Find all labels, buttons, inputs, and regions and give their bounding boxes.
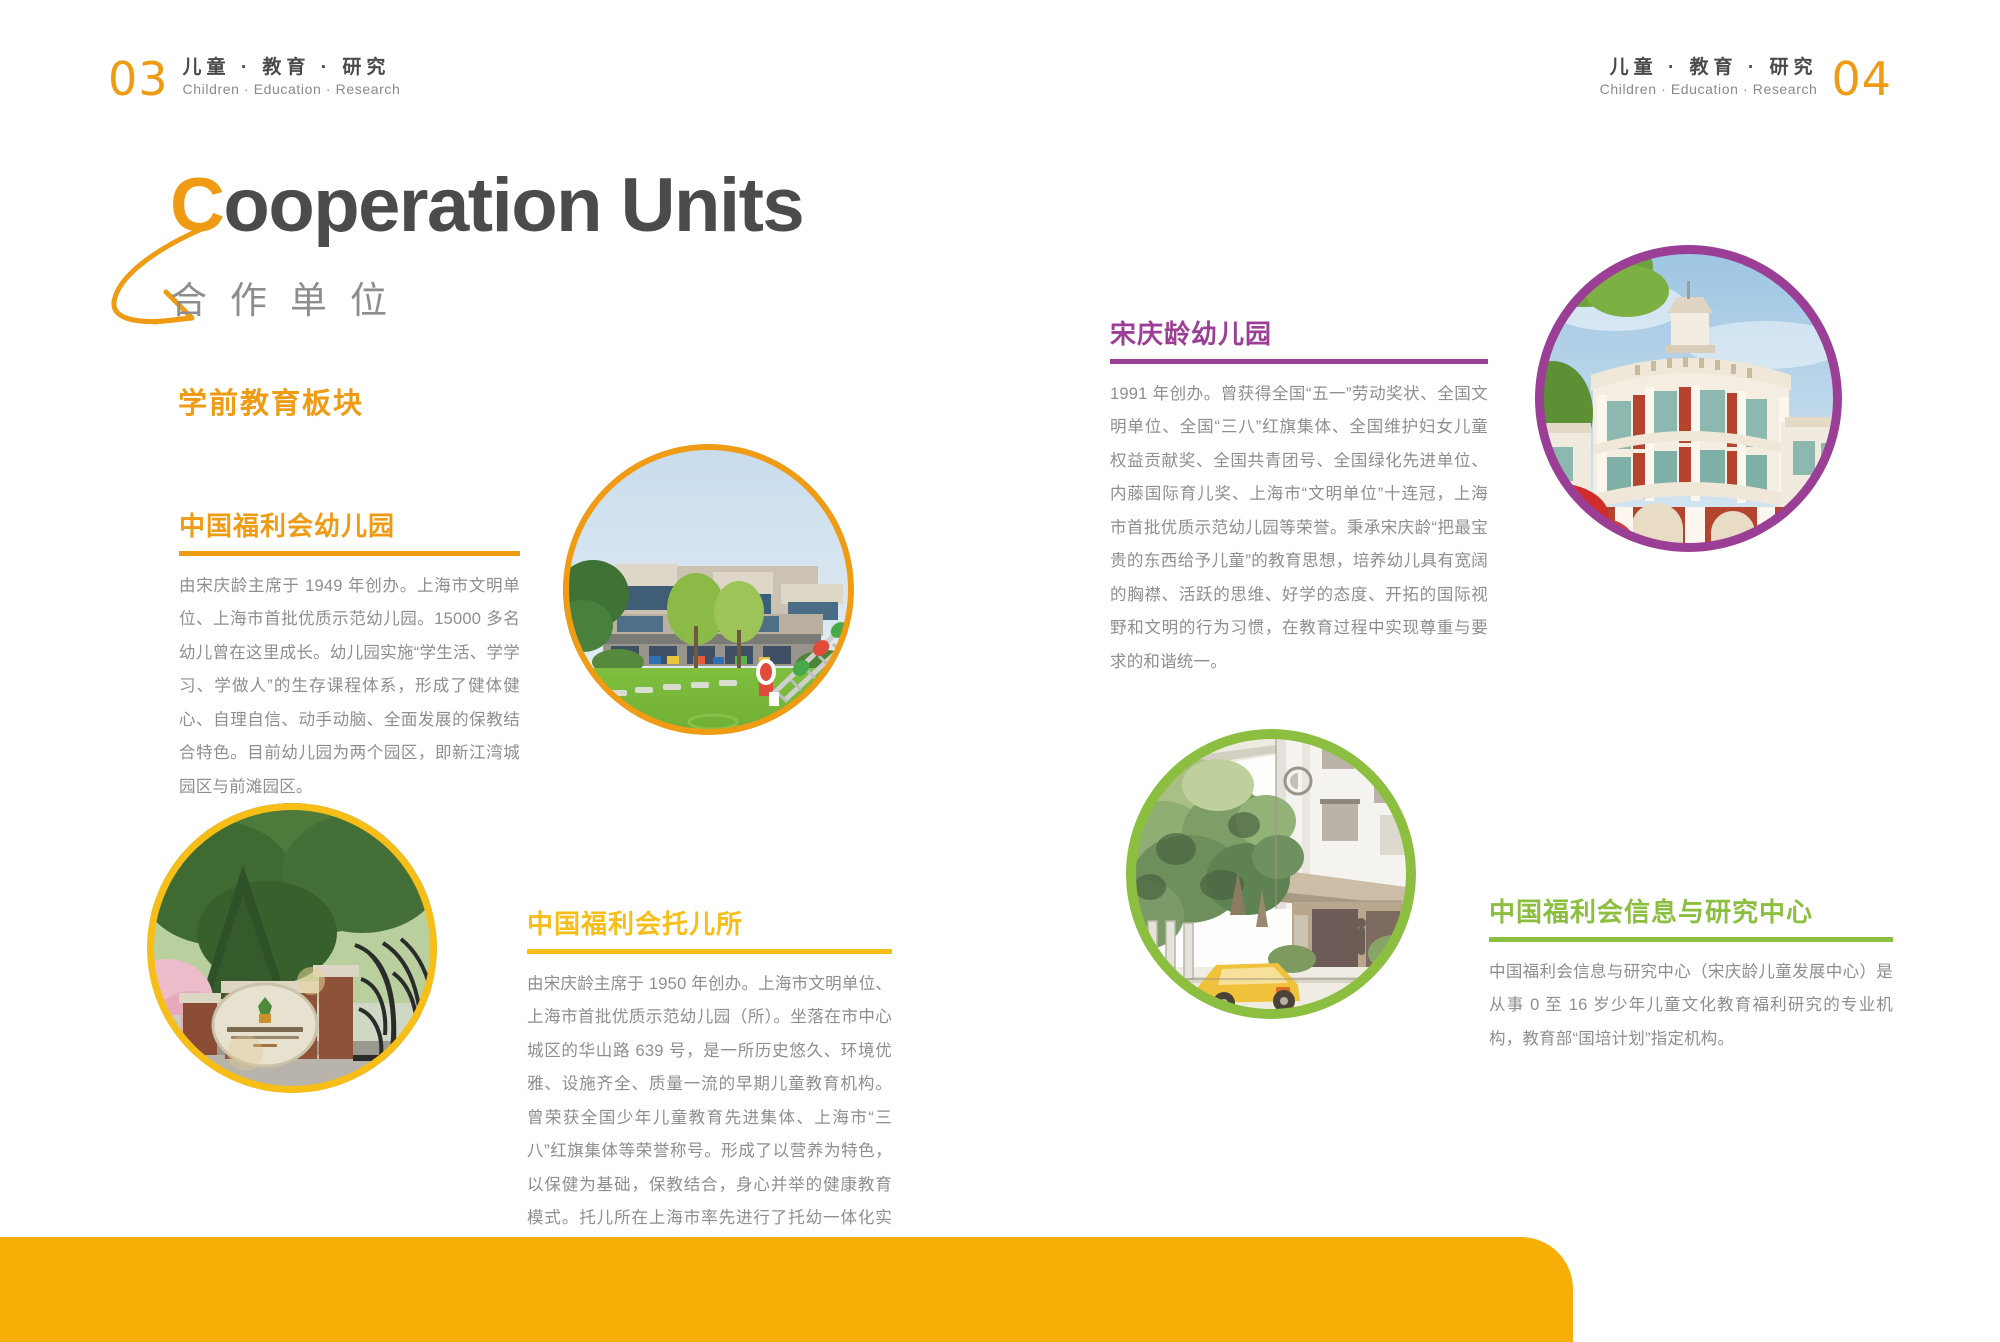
running-head-right-en: Children · Education · Research [1600, 81, 1818, 97]
page-title-en: Cooperation Units [170, 168, 803, 244]
kindergarten-campus-photo [563, 444, 854, 735]
block-body-soong-kindergarten: 1991 年创办。曾获得全国“五一”劳动奖状、全国文明单位、全国“三八”红旗集体… [1110, 378, 1488, 679]
block-cwi-info-research-center: 中国福利会信息与研究中心 中国福利会信息与研究中心（宋庆龄儿童发展中心）是从事 … [1489, 898, 1893, 1056]
block-rule-cwi-nursery [527, 949, 892, 954]
block-cwi-kindergarten: 中国福利会幼儿园 由宋庆龄主席于 1949 年创办。上海市文明单位、上海市首批优… [179, 512, 520, 804]
block-body-cwi-kindergarten: 由宋庆龄主席于 1949 年创办。上海市文明单位、上海市首批优质示范幼儿园。15… [179, 570, 520, 804]
nursery-gate-photo [147, 803, 437, 1093]
block-title-soong-kindergarten: 宋庆龄幼儿园 [1110, 320, 1488, 350]
running-head-right-cn: 儿童 · 教育 · 研究 [1610, 52, 1818, 79]
masthead: Cooperation Units 合作单位 [170, 168, 803, 324]
block-rule-cwi-kindergarten [179, 551, 520, 556]
research-center-illustration [1126, 729, 1416, 1019]
block-body-cwi-info-research-center: 中国福利会信息与研究中心（宋庆龄儿童发展中心）是从事 0 至 16 岁少年儿童文… [1489, 956, 1893, 1056]
block-title-cwi-info-research-center: 中国福利会信息与研究中心 [1489, 898, 1893, 928]
block-soong-kindergarten: 宋庆龄幼儿园 1991 年创办。曾获得全国“五一”劳动奖状、全国文明单位、全国“… [1110, 320, 1488, 679]
running-head-right: 儿童 · 教育 · 研究 Children · Education · Rese… [1600, 52, 1892, 100]
soong-building-photo [1535, 245, 1842, 552]
kindergarten-campus-image [563, 444, 854, 735]
soong-building-image [1535, 245, 1842, 552]
block-rule-soong-kindergarten [1110, 359, 1488, 364]
running-head-left-cn: 儿童 · 教育 · 研究 [183, 52, 401, 79]
folio-left: 03 [108, 58, 169, 100]
folio-right: 04 [1831, 58, 1892, 100]
running-head-left-text: 儿童 · 教育 · 研究 Children · Education · Rese… [183, 52, 401, 100]
running-head-left-en: Children · Education · Research [183, 81, 401, 97]
block-title-cwi-kindergarten: 中国福利会幼儿园 [179, 512, 520, 542]
brochure-page: 03 儿童 · 教育 · 研究 Children · Education · R… [0, 0, 2000, 1342]
running-head-right-text: 儿童 · 教育 · 研究 Children · Education · Rese… [1600, 52, 1818, 100]
block-title-cwi-nursery: 中国福利会托儿所 [527, 910, 892, 940]
section-label: 学前教育板块 [178, 380, 364, 422]
page-title-cn: 合作单位 [170, 270, 803, 324]
footer-color-band [0, 1237, 1573, 1342]
page-title-rest: ooperation Units [223, 163, 803, 248]
research-center-image [1126, 729, 1416, 1019]
running-head-left: 03 儿童 · 教育 · 研究 Children · Education · R… [108, 52, 400, 100]
block-rule-cwi-info-research-center [1489, 937, 1893, 942]
page-title-initial: C [170, 163, 223, 248]
nursery-gate-image [147, 803, 437, 1093]
